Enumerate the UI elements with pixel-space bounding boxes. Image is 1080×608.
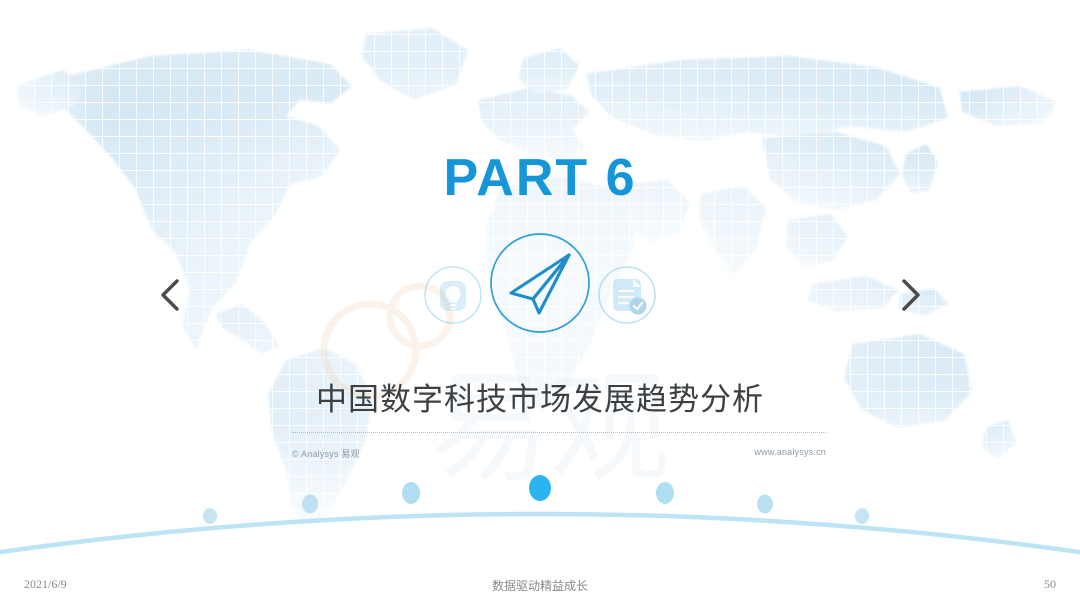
- progress-dot-2[interactable]: [302, 495, 318, 514]
- prev-slide-button[interactable]: [143, 268, 197, 322]
- next-slide-button[interactable]: [884, 268, 938, 322]
- part-label: PART 6: [0, 148, 1080, 208]
- lightbulb-icon: [414, 256, 492, 334]
- progress-arc: [0, 455, 1080, 560]
- website-url: www.analysys.cn: [754, 447, 826, 457]
- presentation-slide: 易观 PART 6: [0, 0, 1080, 563]
- divider-line: [292, 432, 826, 433]
- slide-title: 中国数字科技市场发展趋势分析: [0, 374, 1080, 419]
- footer-tagline: 数据驱动精益成长: [0, 577, 1080, 594]
- progress-dot-7[interactable]: [855, 508, 869, 524]
- paper-plane-icon: [486, 229, 594, 337]
- progress-dot-1[interactable]: [203, 508, 217, 524]
- slide-viewer: 易观 PART 6: [0, 0, 1080, 608]
- progress-dot-4-active[interactable]: [529, 475, 551, 501]
- copyright-text: © Analysys 易观: [292, 447, 360, 460]
- progress-dot-3[interactable]: [402, 482, 420, 504]
- chevron-left-icon: [156, 275, 184, 315]
- credit-row: © Analysys 易观 www.analysys.cn: [292, 447, 826, 461]
- credit-block: © Analysys 易观 www.analysys.cn: [292, 432, 826, 461]
- chevron-right-icon: [897, 275, 925, 315]
- progress-dot-6[interactable]: [757, 495, 773, 514]
- document-check-icon: [588, 256, 666, 334]
- arc-line: [0, 514, 1080, 555]
- footer-page-number: 50: [1044, 577, 1056, 592]
- progress-dot-5[interactable]: [656, 482, 674, 504]
- slide-footer: 2021/6/9 数据驱动精益成长 50: [0, 563, 1080, 608]
- progress-dots: [203, 475, 869, 524]
